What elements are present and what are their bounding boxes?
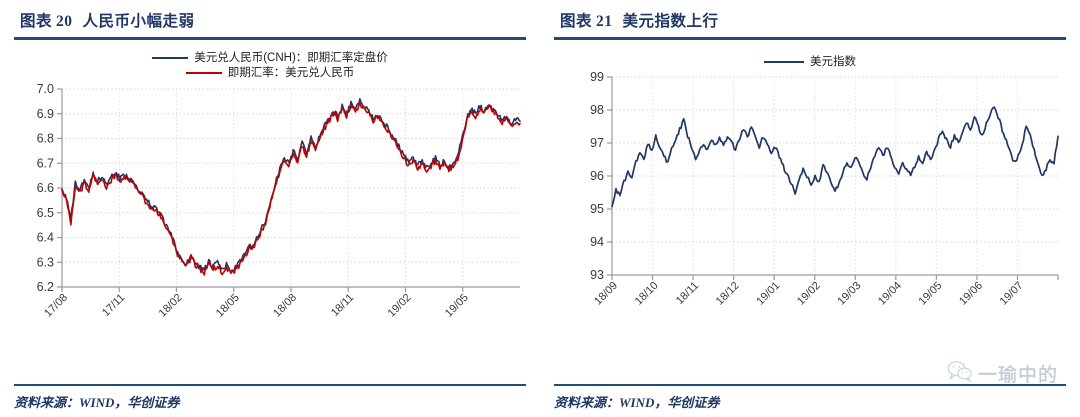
figure-20-title: 图表20人民币小幅走弱 xyxy=(14,0,526,37)
figure-20-footer-rule xyxy=(14,384,526,387)
figure-21-legend: 美元指数 xyxy=(554,56,1066,69)
figure-20-legend: 美元兑人民币(CNH)：即期汇率定盘价 即期汇率：美元兑人民币 xyxy=(14,52,526,79)
svg-text:96: 96 xyxy=(590,169,604,183)
svg-text:95: 95 xyxy=(590,202,604,216)
svg-text:19/02: 19/02 xyxy=(386,292,414,320)
svg-text:18/09: 18/09 xyxy=(592,279,620,307)
svg-text:19/07: 19/07 xyxy=(998,279,1026,307)
svg-text:97: 97 xyxy=(590,136,604,150)
svg-text:18/12: 18/12 xyxy=(714,279,742,307)
svg-text:17/08: 17/08 xyxy=(42,292,70,320)
svg-text:98: 98 xyxy=(590,103,604,117)
legend-swatch-red-icon xyxy=(186,72,222,74)
svg-text:19/06: 19/06 xyxy=(957,279,985,307)
figure-20-title-rule xyxy=(14,37,526,40)
figure-20-chart: 6.26.36.46.56.66.76.86.97.017/0817/1118/… xyxy=(14,81,526,331)
svg-text:18/05: 18/05 xyxy=(214,292,242,320)
figure-20-source: 资料来源：WIND，华创证券 xyxy=(14,392,526,411)
figure-21-chart: 9394959697989918/0918/1018/1118/1219/011… xyxy=(554,71,1066,321)
figure-21-title-number: 21 xyxy=(596,13,613,30)
figure-21-title: 图表21美元指数上行 xyxy=(554,0,1066,37)
svg-text:18/10: 18/10 xyxy=(633,279,661,307)
svg-text:19/04: 19/04 xyxy=(876,279,904,307)
legend-swatch-navy-icon xyxy=(764,61,804,63)
legend-label-cnh-fixing: 美元兑人民币(CNH)：即期汇率定盘价 xyxy=(194,52,388,65)
figure-21-footer-rule xyxy=(554,384,1066,387)
svg-text:99: 99 xyxy=(590,71,604,84)
figure-21-title-rule xyxy=(554,37,1066,40)
figure-panel-21: 图表21美元指数上行 美元指数 9394959697989918/0918/10… xyxy=(540,0,1080,417)
figure-20-title-text: 人民币小幅走弱 xyxy=(83,13,195,30)
svg-text:17/11: 17/11 xyxy=(100,292,127,319)
legend-item-cnh-fixing: 美元兑人民币(CNH)：即期汇率定盘价 xyxy=(152,52,388,65)
figure-21-title-text: 美元指数上行 xyxy=(623,13,719,30)
figure-20-title-prefix: 图表 xyxy=(20,13,52,30)
svg-text:19/05: 19/05 xyxy=(443,292,471,320)
legend-swatch-navy-icon xyxy=(152,57,188,59)
figure-21-source: 资料来源：WIND，华创证券 xyxy=(554,392,1066,411)
figure-21-footer: 资料来源：WIND，华创证券 xyxy=(554,384,1066,412)
svg-text:6.7: 6.7 xyxy=(37,157,54,171)
svg-text:7.0: 7.0 xyxy=(37,82,54,96)
svg-text:93: 93 xyxy=(590,268,604,282)
svg-text:94: 94 xyxy=(590,235,604,249)
svg-text:6.3: 6.3 xyxy=(37,256,54,270)
legend-label-dollar-index: 美元指数 xyxy=(810,56,856,69)
svg-text:19/02: 19/02 xyxy=(795,279,823,307)
dollar-index-line-chart: 9394959697989918/0918/1018/1118/1219/011… xyxy=(554,71,1066,321)
svg-text:19/03: 19/03 xyxy=(835,279,863,307)
legend-item-dollar-index: 美元指数 xyxy=(764,56,856,69)
svg-text:18/11: 18/11 xyxy=(674,279,701,306)
svg-text:6.8: 6.8 xyxy=(37,132,54,146)
legend-label-spot-rate: 即期汇率：美元兑人民币 xyxy=(228,67,355,80)
svg-text:6.2: 6.2 xyxy=(37,280,54,294)
figure-21-title-prefix: 图表 xyxy=(560,13,592,30)
figure-panel-20: 图表20人民币小幅走弱 美元兑人民币(CNH)：即期汇率定盘价 即期汇率：美元兑… xyxy=(0,0,540,417)
svg-text:19/05: 19/05 xyxy=(917,279,945,307)
svg-text:18/08: 18/08 xyxy=(271,292,299,320)
svg-text:18/02: 18/02 xyxy=(157,292,185,320)
rmb-exchange-rate-line-chart: 6.26.36.46.56.66.76.86.97.017/0817/1118/… xyxy=(14,81,526,331)
svg-text:6.9: 6.9 xyxy=(37,107,54,121)
svg-text:18/11: 18/11 xyxy=(329,292,356,319)
svg-text:6.6: 6.6 xyxy=(37,181,54,195)
svg-text:6.4: 6.4 xyxy=(37,231,54,245)
svg-text:19/01: 19/01 xyxy=(754,279,782,307)
figure-20-title-number: 20 xyxy=(56,13,73,30)
figure-20-footer: 资料来源：WIND，华创证券 xyxy=(14,384,526,412)
legend-item-spot-rate: 即期汇率：美元兑人民币 xyxy=(186,67,355,80)
figure-page: 图表20人民币小幅走弱 美元兑人民币(CNH)：即期汇率定盘价 即期汇率：美元兑… xyxy=(0,0,1080,417)
svg-text:6.5: 6.5 xyxy=(37,206,54,220)
